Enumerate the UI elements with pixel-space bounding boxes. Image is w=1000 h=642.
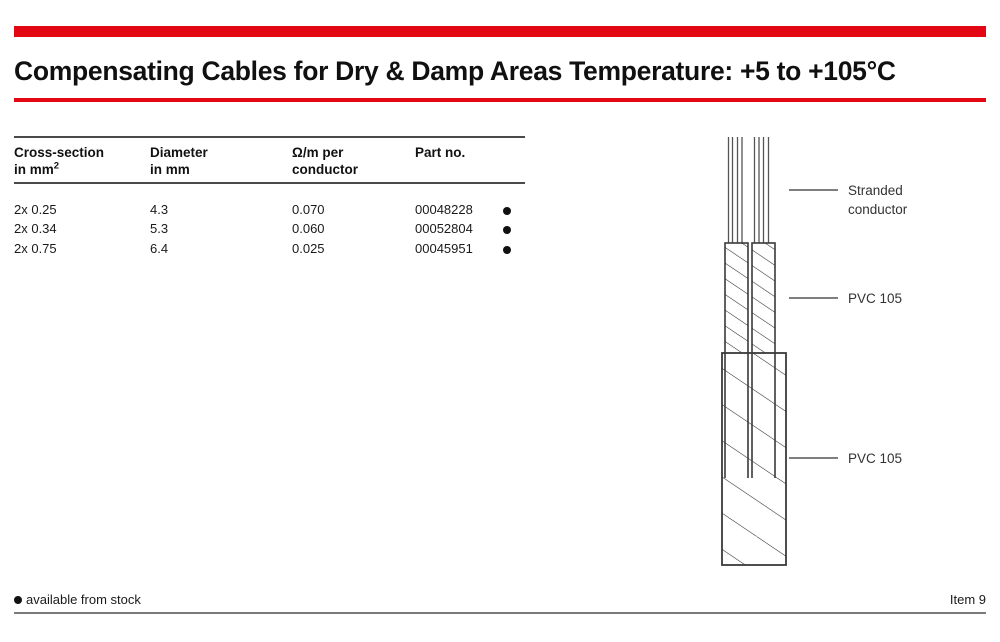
column-header-diameter-line1: Diameter: [150, 145, 208, 160]
column-header-part-no-line1: Part no.: [415, 145, 465, 160]
stranded-conductor-right-bundle: [755, 137, 769, 246]
filled-circle-icon: [503, 226, 511, 234]
filled-circle-icon: [14, 596, 22, 604]
cell-diameter: 5.3: [150, 221, 168, 236]
label-pvc-outer: PVC 105: [848, 449, 902, 468]
column-header-cross-section: Cross-section in mm2: [14, 145, 104, 178]
column-header-ohm-per-m-line1: Ω/m per: [292, 145, 343, 160]
cell-part-no: 00048228: [415, 202, 473, 217]
cable-construction-diagram: [690, 130, 1000, 580]
cell-ohm-per-m: 0.070: [292, 202, 325, 217]
table-header-row: Cross-section in mm2 Diameter in mm Ω/m …: [14, 138, 525, 182]
cell-part-no: 00052804: [415, 221, 473, 236]
column-header-cross-section-line1: Cross-section: [14, 145, 104, 160]
cell-ohm-per-m: 0.060: [292, 221, 325, 236]
table-body: 2x 0.25 4.3 0.070 00048228 2x 0.34 5.3 0…: [14, 184, 525, 261]
footer-rule: [14, 612, 986, 614]
pvc-outer-jacket: [722, 353, 786, 565]
cell-diameter: 6.4: [150, 241, 168, 256]
label-stranded-conductor: Stranded conductor: [848, 181, 907, 219]
column-header-ohm-per-m: Ω/m per conductor: [292, 145, 358, 178]
stock-availability-dot: [503, 222, 511, 237]
cell-cross-section: 2x 0.75: [14, 241, 57, 256]
cell-cross-section: 2x 0.34: [14, 221, 57, 236]
cell-ohm-per-m: 0.025: [292, 241, 325, 256]
label-stranded-conductor-line2: conductor: [848, 202, 907, 217]
cell-part-no: 00045951: [415, 241, 473, 256]
table-row: 2x 0.75 6.4 0.025 00045951: [14, 241, 525, 261]
page-title: Compensating Cables for Dry & Damp Areas…: [14, 56, 989, 87]
column-header-ohm-per-m-line2: conductor: [292, 162, 358, 179]
column-header-cross-section-line2: in mm2: [14, 162, 104, 179]
column-header-part-no: Part no.: [415, 145, 465, 162]
label-pvc-inner: PVC 105: [848, 289, 902, 308]
footer-item-number: Item 9: [950, 592, 986, 607]
top-accent-bar: [14, 26, 986, 37]
stock-availability-dot: [503, 203, 511, 218]
column-header-diameter: Diameter in mm: [150, 145, 208, 178]
filled-circle-icon: [503, 246, 511, 254]
specification-table: Cross-section in mm2 Diameter in mm Ω/m …: [14, 136, 525, 260]
footer-stock-note: available from stock: [14, 592, 141, 607]
table-row: 2x 0.34 5.3 0.060 00052804: [14, 221, 525, 241]
cable-diagram-svg: [690, 130, 1000, 580]
cell-diameter: 4.3: [150, 202, 168, 217]
stock-availability-dot: [503, 242, 511, 257]
cell-cross-section: 2x 0.25: [14, 202, 57, 217]
table-row: 2x 0.25 4.3 0.070 00048228: [14, 202, 525, 222]
title-underline-accent-bar: [14, 98, 986, 102]
stranded-conductor-left-bundle: [729, 137, 743, 246]
filled-circle-icon: [503, 207, 511, 215]
column-header-diameter-line2: in mm: [150, 162, 208, 179]
footer-stock-note-text: available from stock: [26, 592, 141, 607]
label-stranded-conductor-line1: Stranded: [848, 183, 903, 198]
